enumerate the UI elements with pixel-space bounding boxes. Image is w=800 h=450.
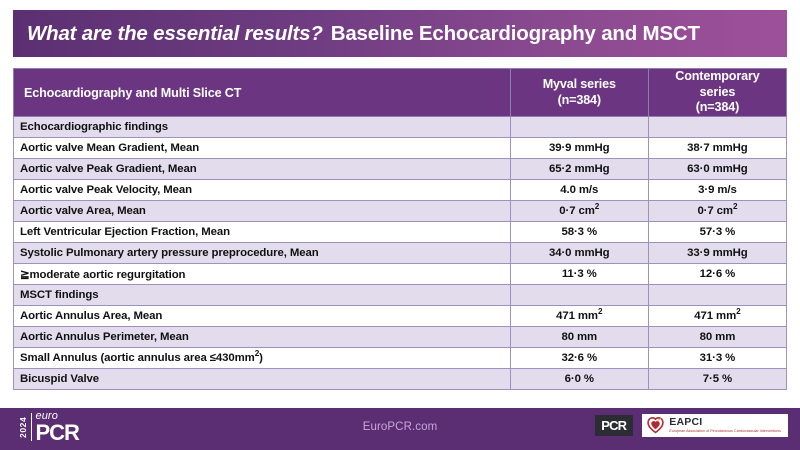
cell-measure-label: Bicuspid Valve <box>14 369 511 390</box>
cell-contemporary-value: 7·5 % <box>648 369 786 390</box>
column-header-myval-line2: (n=384) <box>521 93 638 109</box>
table-row: Aortic Annulus Perimeter, Mean80 mm80 mm <box>14 327 787 348</box>
slide-root: What are the essential results? Baseline… <box>0 0 800 450</box>
column-header-contemporary-line1: Contemporary series <box>659 69 776 100</box>
cell-measure-label: Aortic valve Mean Gradient, Mean <box>14 138 511 159</box>
cell-contemporary-value: 0·7 cm2 <box>648 201 786 222</box>
table-row: Left Ventricular Ejection Fraction, Mean… <box>14 222 787 243</box>
cell-measure-label: MSCT findings <box>14 285 511 306</box>
title-main-text: Baseline Echocardiography and MSCT <box>331 22 700 46</box>
table-row: Systolic Pulmonary artery pressure prepr… <box>14 243 787 264</box>
cell-contemporary-value: 33·9 mmHg <box>648 243 786 264</box>
cell-contemporary-value: 31·3 % <box>648 348 786 369</box>
cell-myval-value: 65·2 mmHg <box>510 159 648 180</box>
slide-title-bar: What are the essential results? Baseline… <box>13 10 787 57</box>
cell-contemporary-value: 80 mm <box>648 327 786 348</box>
footer-logo-group: PCR EAPCI European Association of Percut… <box>595 414 788 437</box>
cell-measure-label: ≧moderate aortic regurgitation <box>14 264 511 285</box>
table-section-row: Echocardiographic findings <box>14 117 787 138</box>
cell-contemporary-value: 38·7 mmHg <box>648 138 786 159</box>
table-row: Aortic Annulus Area, Mean471 mm2471 mm2 <box>14 306 787 327</box>
cell-measure-label: Aortic valve Peak Velocity, Mean <box>14 180 511 201</box>
cell-myval-value: 34·0 mmHg <box>510 243 648 264</box>
cell-myval-value <box>510 117 648 138</box>
title-question-text: What are the essential results? <box>27 22 323 46</box>
cell-myval-value: 39·9 mmHg <box>510 138 648 159</box>
cell-myval-value: 11·3 % <box>510 264 648 285</box>
heart-icon <box>647 417 664 434</box>
cell-contemporary-value <box>648 117 786 138</box>
table-row: Aortic valve Area, Mean0·7 cm20·7 cm2 <box>14 201 787 222</box>
table-row: ≧moderate aortic regurgitation11·3 %12·6… <box>14 264 787 285</box>
cell-measure-label: Echocardiographic findings <box>14 117 511 138</box>
table-header-row: Echocardiography and Multi Slice CT Myva… <box>14 69 787 117</box>
table-row: Aortic valve Mean Gradient, Mean39·9 mmH… <box>14 138 787 159</box>
table-row: Small Annulus (aortic annulus area ≤430m… <box>14 348 787 369</box>
cell-measure-label: Aortic Annulus Perimeter, Mean <box>14 327 511 348</box>
cell-measure-label: Aortic valve Peak Gradient, Mean <box>14 159 511 180</box>
table-body: Echocardiographic findingsAortic valve M… <box>14 117 787 390</box>
column-header-contemporary-line2: (n=384) <box>659 100 776 116</box>
column-header-contemporary: Contemporary series (n=384) <box>648 69 786 117</box>
cell-myval-value: 471 mm2 <box>510 306 648 327</box>
cell-measure-label: Systolic Pulmonary artery pressure prepr… <box>14 243 511 264</box>
cell-contemporary-value: 3·9 m/s <box>648 180 786 201</box>
table-section-row: MSCT findings <box>14 285 787 306</box>
table-row: Aortic valve Peak Gradient, Mean65·2 mmH… <box>14 159 787 180</box>
cell-myval-value: 58·3 % <box>510 222 648 243</box>
column-header-measure: Echocardiography and Multi Slice CT <box>14 69 511 117</box>
eapci-subtitle-text: European Association of Percutaneous Car… <box>669 430 781 434</box>
cell-myval-value: 6·0 % <box>510 369 648 390</box>
table-row: Aortic valve Peak Velocity, Mean4.0 m/s3… <box>14 180 787 201</box>
pcr-badge-logo: PCR <box>595 415 633 436</box>
column-header-myval: Myval series (n=384) <box>510 69 648 117</box>
cell-contemporary-value <box>648 285 786 306</box>
cell-measure-label: Aortic valve Area, Mean <box>14 201 511 222</box>
cell-contemporary-value: 63·0 mmHg <box>648 159 786 180</box>
eapci-badge-logo: EAPCI European Association of Percutaneo… <box>642 414 788 437</box>
cell-myval-value: 0·7 cm2 <box>510 201 648 222</box>
echo-msct-table: Echocardiography and Multi Slice CT Myva… <box>13 68 787 390</box>
cell-contemporary-value: 12·6 % <box>648 264 786 285</box>
cell-measure-label: Small Annulus (aortic annulus area ≤430m… <box>14 348 511 369</box>
cell-measure-label: Left Ventricular Ejection Fraction, Mean <box>14 222 511 243</box>
cell-contemporary-value: 57·3 % <box>648 222 786 243</box>
cell-contemporary-value: 471 mm2 <box>648 306 786 327</box>
cell-myval-value <box>510 285 648 306</box>
table-row: Bicuspid Valve6·0 %7·5 % <box>14 369 787 390</box>
cell-myval-value: 32·6 % <box>510 348 648 369</box>
cell-myval-value: 80 mm <box>510 327 648 348</box>
column-header-myval-line1: Myval series <box>521 77 638 93</box>
cell-measure-label: Aortic Annulus Area, Mean <box>14 306 511 327</box>
eapci-text-block: EAPCI European Association of Percutaneo… <box>669 417 781 433</box>
table-head: Echocardiography and Multi Slice CT Myva… <box>14 69 787 117</box>
eapci-name-text: EAPCI <box>669 417 781 428</box>
cell-myval-value: 4.0 m/s <box>510 180 648 201</box>
